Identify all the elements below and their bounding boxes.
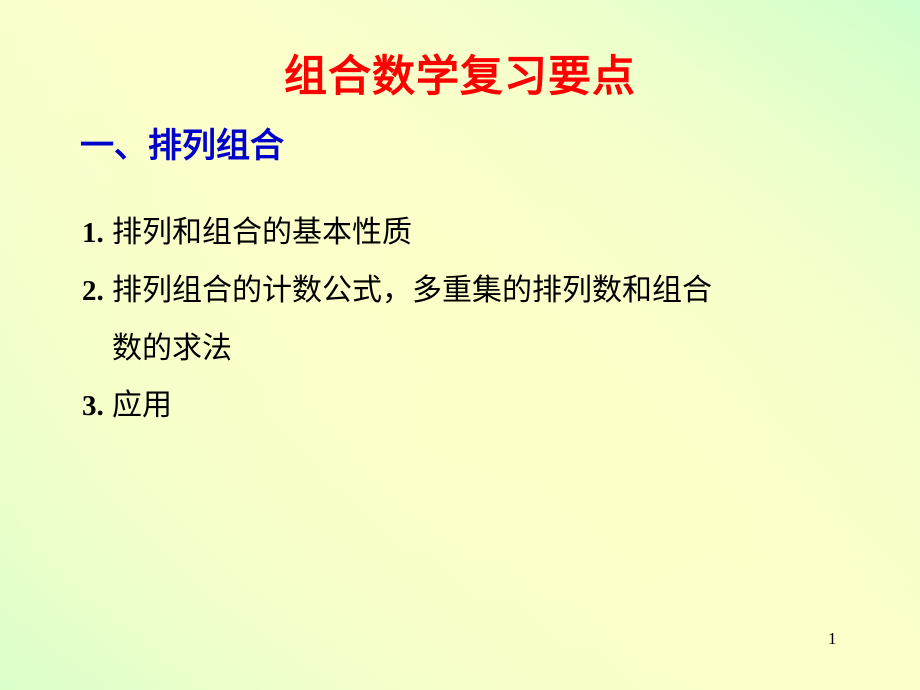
slide-content: 组合数学复习要点 一、排列组合 1.排列和组合的基本性质 2.排列组合的计数公式… [0,0,920,690]
list-item-text: 排列和组合的基本性质 [112,216,412,249]
page-number: 1 [828,630,837,647]
section-heading: 一、排列组合 [80,130,284,164]
list-item-number: 3. [82,378,112,435]
presentation-slide: 组合数学复习要点 一、排列组合 1.排列和组合的基本性质 2.排列组合的计数公式… [0,0,920,690]
list-item-number: 2. [82,263,112,320]
list-item: 3.应用 [82,377,882,435]
list-item: 2.排列组合的计数公式，多重集的排列数和组合 [82,262,882,320]
list-item-number: 1. [82,205,112,262]
slide-title: 组合数学复习要点 [0,56,920,99]
outline-list: 1.排列和组合的基本性质 2.排列组合的计数公式，多重集的排列数和组合 数的求法… [82,204,882,435]
list-item-text: 应用 [112,389,172,422]
list-item-continuation: 数的求法 [82,320,882,377]
list-item-text: 排列组合的计数公式，多重集的排列数和组合 [112,274,712,307]
list-item: 1.排列和组合的基本性质 [82,204,882,262]
